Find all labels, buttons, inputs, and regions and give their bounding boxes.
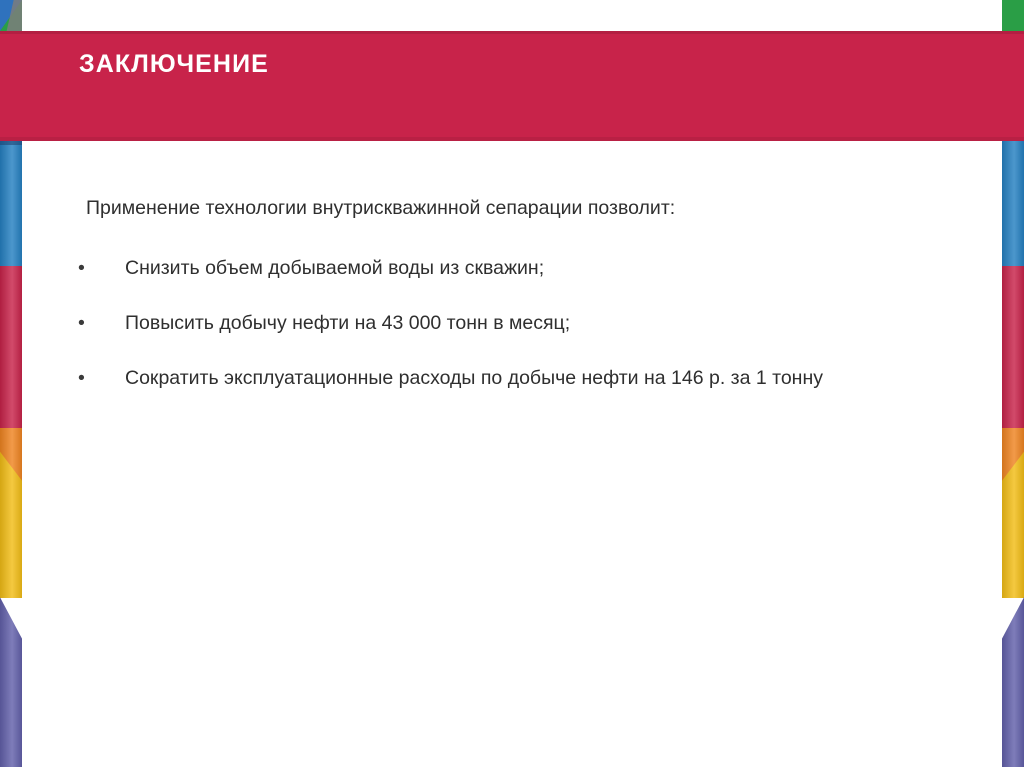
bullet-item-1: • Снизить объем добываемой воды из скваж… xyxy=(78,255,998,283)
right-band-green xyxy=(1002,0,1024,31)
slide-canvas: ЗАКЛЮЧЕНИЕ Применение технологии внутрис… xyxy=(0,0,1024,767)
bullet-marker-icon: • xyxy=(78,365,96,391)
bullet-text-1: Снизить объем добываемой воды из скважин… xyxy=(125,255,544,281)
bullet-marker-icon: • xyxy=(78,310,96,336)
bullet-item-3: • Сократить эксплуатационные расходы по … xyxy=(78,365,998,393)
intro-paragraph: Применение технологии внутрискважинной с… xyxy=(86,197,675,220)
slide-body: Применение технологии внутрискважинной с… xyxy=(0,141,1024,767)
header-top-edge xyxy=(0,31,1024,34)
page-title: ЗАКЛЮЧЕНИЕ xyxy=(79,50,269,79)
bullet-item-2: • Повысить добычу нефти на 43 000 тонн в… xyxy=(78,310,998,338)
bullet-text-3: Сократить эксплуатационные расходы по до… xyxy=(125,365,823,391)
bullet-text-2: Повысить добычу нефти на 43 000 тонн в м… xyxy=(125,310,570,336)
slide-header-band xyxy=(0,31,1024,141)
bullet-marker-icon: • xyxy=(78,255,96,281)
